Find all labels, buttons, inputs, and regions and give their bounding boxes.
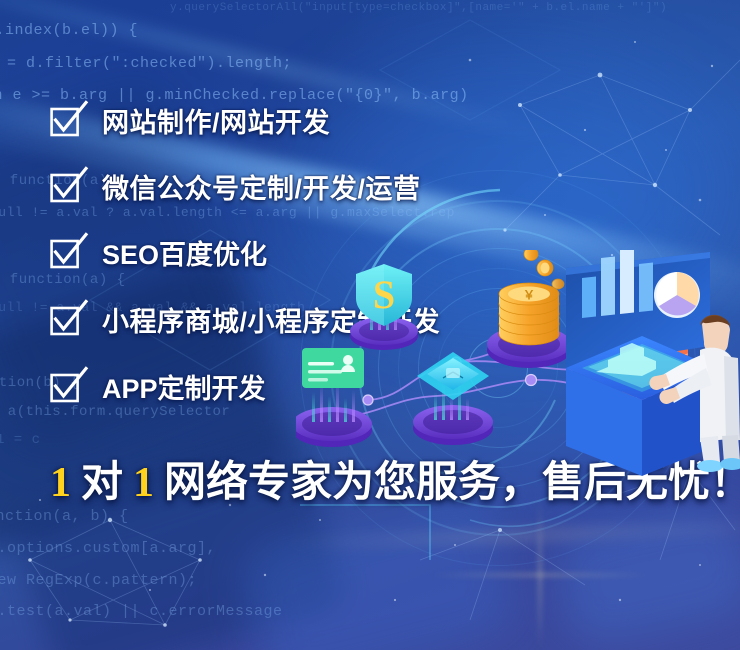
code-line: b.options.custom[a.arg], <box>0 540 216 557</box>
code-line: d.test(a.val) || c.errorMessage <box>0 603 283 620</box>
checked-checkbox-icon <box>52 173 80 201</box>
checked-checkbox-icon <box>52 306 80 334</box>
headline-word: 对 <box>81 448 123 509</box>
svg-text:S: S <box>373 272 395 317</box>
headline-number: 1 <box>133 462 154 504</box>
isometric-data-platform-illustration: S <box>296 250 740 480</box>
bokeh-blob <box>237 491 523 650</box>
promotional-banner: y.querySelectorAll("input[type=checkbox]… <box>0 0 740 650</box>
feature-item-4: APP定制开发 <box>52 367 266 406</box>
feature-item-label: SEO百度优化 <box>102 233 267 272</box>
id-card-pedestal <box>296 348 372 447</box>
feature-item-label: 网站制作/网站开发 <box>102 101 330 140</box>
lens-flare <box>539 500 541 650</box>
feature-item-label: 微信公众号定制/开发/运营 <box>102 167 421 206</box>
light-streak <box>280 522 740 548</box>
code-line: new RegExp(c.pattern); <box>0 572 197 589</box>
bokeh-blob <box>551 501 740 648</box>
lens-flare <box>430 574 650 576</box>
feature-item-label: APP定制开发 <box>102 367 266 406</box>
code-line: 1 = c <box>0 432 41 448</box>
feature-item-0: 网站制作/网站开发 <box>52 101 330 140</box>
checked-checkbox-icon <box>52 239 80 267</box>
code-line: null != a.val ? a.val.length <= a.arg ||… <box>0 205 455 220</box>
illustration-svg: S <box>296 250 740 480</box>
code-line: unction(a, b) { <box>0 508 129 525</box>
code-line: d.index(b.el)) { <box>0 22 138 39</box>
code-line: y.querySelectorAll("input[type=checkbox]… <box>170 2 667 14</box>
checked-checkbox-icon <box>52 373 80 401</box>
microchip-icon <box>417 352 489 400</box>
security-shield-icon: S <box>356 264 412 326</box>
chip-pedestal <box>413 352 493 445</box>
code-line: e = d.filter(":checked").length; <box>0 55 292 72</box>
id-card-icon <box>302 348 364 388</box>
headline-number: 1 <box>50 462 71 504</box>
monitor-pie-chart <box>654 272 700 318</box>
code-line: = a(this.form.querySelector <box>0 404 230 420</box>
feature-item-2: SEO百度优化 <box>52 233 267 272</box>
shield-pedestal: S <box>350 264 418 350</box>
coin-stack-pedestal: ￥ <box>487 250 571 368</box>
code-line: : function(a) { <box>0 272 126 288</box>
coin-stack-icon: ￥ <box>499 250 564 345</box>
analyst-workstation <box>566 250 740 476</box>
svg-text:￥: ￥ <box>523 288 535 302</box>
checked-checkbox-icon <box>52 107 80 135</box>
feature-item-1: 微信公众号定制/开发/运营 <box>52 167 421 206</box>
